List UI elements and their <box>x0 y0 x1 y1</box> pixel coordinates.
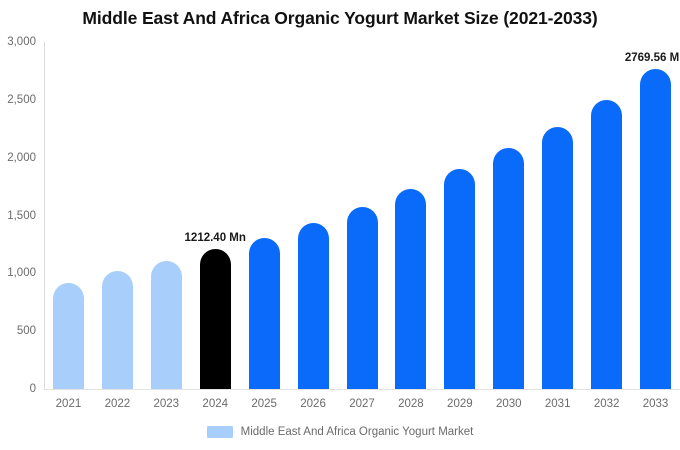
legend-swatch-icon <box>207 426 233 438</box>
x-axis-tick-label: 2032 <box>594 398 620 410</box>
legend-label: Middle East And Africa Organic Yogurt Ma… <box>241 426 474 438</box>
y-axis-tick-label: 0 <box>0 383 44 395</box>
bar-slot <box>493 42 524 389</box>
bar-slot <box>298 42 329 389</box>
bar-2028[interactable] <box>395 189 426 389</box>
bar-value-label: 2769.56 Mn <box>625 52 680 64</box>
y-axis-tick-label: 1,000 <box>0 267 44 279</box>
x-axis-tick-label: 2024 <box>202 398 228 410</box>
bar-2032[interactable] <box>591 100 622 389</box>
y-axis-tick-label: 2,000 <box>0 152 44 164</box>
y-axis-tick-label: 2,500 <box>0 94 44 106</box>
bar-2025[interactable] <box>249 238 280 389</box>
bar-2023[interactable] <box>151 261 182 389</box>
x-axis-tick-label: 2023 <box>154 398 180 410</box>
bar-2024[interactable] <box>200 249 231 389</box>
bar-2021[interactable] <box>53 283 84 389</box>
bar-2031[interactable] <box>542 127 573 389</box>
x-axis-tick-label: 2030 <box>496 398 522 410</box>
bars-layer: 1212.40 Mn2769.56 Mn <box>44 42 680 389</box>
bar-chart: Middle East And Africa Organic Yogurt Ma… <box>0 0 680 450</box>
bar-slot <box>591 42 622 389</box>
bar-slot <box>347 42 378 389</box>
bar-slot <box>640 42 671 389</box>
x-axis-tick-labels: 2021202220232024202520262027202820292030… <box>44 398 680 418</box>
x-axis-tick-label: 2028 <box>398 398 424 410</box>
x-axis-tick-label: 2025 <box>251 398 277 410</box>
bar-2033[interactable] <box>640 69 671 389</box>
bar-slot <box>249 42 280 389</box>
bar-slot <box>102 42 133 389</box>
bar-2026[interactable] <box>298 223 329 389</box>
bar-slot <box>395 42 426 389</box>
bar-slot <box>542 42 573 389</box>
y-axis-tick-label: 3,000 <box>0 36 44 48</box>
chart-legend: Middle East And Africa Organic Yogurt Ma… <box>0 426 680 438</box>
bar-2029[interactable] <box>444 169 475 389</box>
bar-2022[interactable] <box>102 271 133 389</box>
x-axis-tick-label: 2021 <box>56 398 82 410</box>
x-axis-tick-label: 2027 <box>349 398 375 410</box>
x-axis-tick-label: 2029 <box>447 398 473 410</box>
x-axis-tick-label: 2026 <box>300 398 326 410</box>
bar-2030[interactable] <box>493 148 524 389</box>
bar-slot <box>53 42 84 389</box>
x-axis-line <box>44 389 680 390</box>
bar-2027[interactable] <box>347 207 378 389</box>
bar-value-label: 1212.40 Mn <box>185 232 246 244</box>
bar-slot <box>444 42 475 389</box>
x-axis-tick-label: 2022 <box>105 398 131 410</box>
bar-slot <box>151 42 182 389</box>
x-axis-tick-label: 2033 <box>643 398 669 410</box>
y-axis-tick-label: 500 <box>0 325 44 337</box>
y-axis-tick-label: 1,500 <box>0 210 44 222</box>
bar-slot <box>200 42 231 389</box>
x-axis-tick-label: 2031 <box>545 398 571 410</box>
